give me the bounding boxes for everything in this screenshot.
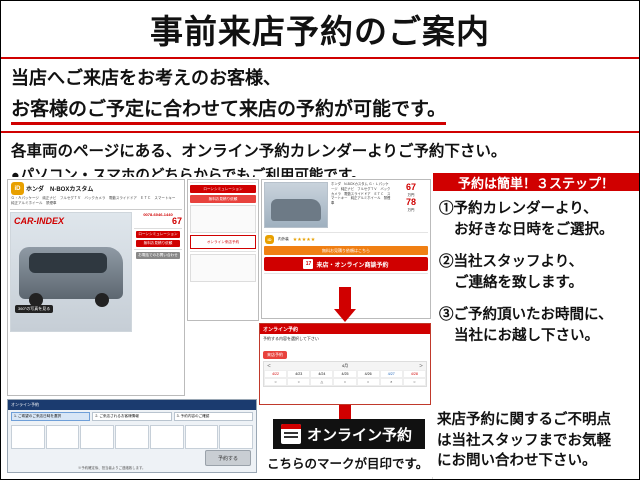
listing-reserve-button[interactable]: 17 来店・オンライン商談予約: [264, 257, 428, 271]
listing-photo[interactable]: [264, 182, 328, 228]
calendar-slot[interactable]: △: [310, 378, 333, 386]
calendar-slot[interactable]: ○: [264, 378, 287, 386]
form-calendar-cell[interactable]: [11, 425, 45, 449]
contact-line-1: 来店予約に関するご不明点: [437, 410, 635, 431]
tel-inquiry-button[interactable]: お電話でのお問い合わせ: [136, 252, 180, 259]
mid-reserve-button[interactable]: オンライン来店予約: [190, 235, 256, 249]
steps-banner: 予約は簡単！３ステップ！: [433, 173, 639, 191]
calendar-date[interactable]: 4/23: [287, 370, 310, 378]
lead-line-2-wrap: お客様のご予定に合わせて来店の予約が可能です。: [1, 90, 639, 131]
listing-rating-label: 内外装: [278, 237, 289, 242]
step-2-line-1: ②当社スタッフより、: [439, 254, 583, 270]
calendar-icon: 17: [303, 259, 313, 269]
screenshot-online-reservation[interactable]: オンライン予約 予約する内容を選択して下さい 来店予約 ＜ 4月 ＞ 4/22 …: [259, 323, 431, 405]
quote-request-button[interactable]: 無料お見積り依頼: [136, 240, 180, 247]
calendar-date[interactable]: 4/25: [333, 370, 356, 378]
form-calendar-cell[interactable]: [46, 425, 80, 449]
listing-price-total-unit: 万円: [394, 207, 428, 212]
step-1-line-1: ①予約カレンダーより、: [439, 201, 598, 217]
form-calendar-cell[interactable]: [219, 425, 253, 449]
calendar-slot[interactable]: ×: [380, 378, 403, 386]
vehicle-photo[interactable]: CAR-INDEX 360°の写真を見る: [10, 212, 132, 332]
page-root: 事前来店予約のご案内 当店へご来店をお考えのお客様、 お客様のご予定に合わせて来…: [0, 0, 640, 480]
listing-rating-stars: ★★★★★: [293, 237, 315, 243]
calendar-date-row: 4/22 4/23 4/24 4/25 4/26 4/27 4/28: [264, 370, 426, 378]
form-steps: 1. ご希望のご来店日時を選択 2. ご来店されるお客様情報 3. 予約内容のご…: [8, 410, 256, 423]
mid-divider-1: [190, 182, 256, 183]
online-calendar[interactable]: ＜ 4月 ＞ 4/22 4/23 4/24 4/25 4/26 4/27 4/2…: [263, 361, 427, 387]
photo-360-badge[interactable]: 360°の写真を見る: [15, 305, 53, 313]
steps-list: ①予約カレンダーより、 お好きな日時をご選択。 ②当社スタッフより、 ご連絡を致…: [433, 193, 639, 401]
calendar-month: 4月: [342, 363, 348, 369]
form-step-2[interactable]: 2. ご来店されるお客様情報: [92, 412, 171, 421]
form-calendar-cell[interactable]: [115, 425, 149, 449]
form-submit-button[interactable]: 予約する: [205, 450, 251, 466]
listing-spec: ホンダ N-BOXカスタム Ｇ・Ｌパッケージ 純正ナビ フルセグＴＶ バックカメ…: [331, 182, 391, 228]
calendar-date[interactable]: 4/27: [380, 370, 403, 378]
step-3-line-1: ③ご予約頂いたお時間に、: [439, 307, 613, 323]
form-header: オンライン予約: [8, 400, 256, 410]
car-wheel-rear: [95, 293, 109, 307]
calendar-slot[interactable]: ○: [333, 378, 356, 386]
vehicle-name: ホンダ N-BOXカスタム: [26, 184, 93, 193]
contact-line-3: にお問い合わせ下さい。: [437, 451, 635, 472]
car-window-shape: [29, 253, 107, 273]
lead-line-1: 当店へご来店をお考えのお客様、: [1, 59, 639, 90]
step-1-line-2: お好きな日時をご選択。: [439, 220, 635, 241]
listing-reserve-label: 来店・オンライン商談予約: [316, 260, 388, 269]
page-header: 事前来店予約のご案内: [1, 1, 639, 59]
lead-line-3: 各車両のページにある、オンライン予約カレンダーよりご予約下さい。: [1, 133, 639, 161]
vehicle-sidebar: 0078-6046-1440 67 ローンシミュレーション 無料お見積り依頼 お…: [134, 210, 184, 334]
screenshot-mid-column[interactable]: ローンシミュレーション 無料お見積り依頼 オンライン来店予約: [187, 179, 259, 321]
contact-line-2: は当社スタッフまでお気軽: [437, 431, 635, 452]
step-3: ③ご予約頂いたお時間に、 当社にお越し下さい。: [439, 305, 635, 346]
listing-divider-2: [264, 273, 428, 274]
vehicle-spec: Ｇ・Ａパッケージ 純正ナビ フルセグＴＶ バックカメラ 電動スライドドア ＥＴＣ…: [8, 196, 184, 209]
id-logo-icon: iD: [11, 182, 24, 195]
form-calendar-cell[interactable]: [150, 425, 184, 449]
lead-line-2: お客様のご予定に合わせて来店の予約が可能です。: [11, 94, 446, 125]
page-title: 事前来店予約のご案内: [150, 5, 490, 53]
listing-car-shape: [271, 199, 321, 221]
online-panel-title: オンライン予約: [260, 324, 430, 334]
step-2-line-2: ご連絡を致します。: [439, 273, 635, 294]
listing-top: ホンダ N-BOXカスタム Ｇ・Ｌパッケージ 純正ナビ フルセグＴＶ バックカメ…: [262, 180, 430, 230]
form-calendar-cell[interactable]: [185, 425, 219, 449]
sidebar-divider-2: [134, 249, 182, 250]
calendar-slot[interactable]: ○: [403, 378, 426, 386]
listing-price: 67: [394, 182, 428, 192]
brand-watermark: CAR-INDEX: [14, 216, 64, 226]
online-reservation-label: オンライン予約: [307, 424, 412, 445]
listing-divider: [264, 232, 428, 233]
calendar-prev-button[interactable]: ＜: [267, 363, 271, 369]
online-panel-tab[interactable]: 来店予約: [263, 351, 287, 359]
calendar-date[interactable]: 4/22: [264, 370, 287, 378]
form-note: ※予約確定後、担当者よりご連絡致します。: [78, 465, 145, 470]
step-1: ①予約カレンダーより、 お好きな日時をご選択。: [439, 199, 635, 240]
mid-loan-button[interactable]: ローンシミュレーション: [190, 185, 256, 193]
form-calendar-grid[interactable]: [8, 423, 256, 451]
vehicle-price: 67: [134, 217, 182, 226]
screenshot-vehicle-page[interactable]: iD ホンダ N-BOXカスタム Ｇ・Ａパッケージ 純正ナビ フルセグＴＶ バッ…: [7, 179, 185, 396]
screenshot-reservation-form[interactable]: オンライン予約 1. ご希望のご来店日時を選択 2. ご来店されるお客様情報 3…: [7, 399, 257, 473]
vehicle-page-header: iD ホンダ N-BOXカスタム: [8, 180, 184, 196]
mid-divider-2: [190, 251, 256, 252]
loan-simulation-button[interactable]: ローンシミュレーション: [136, 231, 180, 238]
mid-quote-button[interactable]: 無料お見積り依頼: [190, 195, 256, 203]
online-reservation-caption: こちらのマークが目印です。: [267, 453, 428, 472]
calendar-header: ＜ 4月 ＞: [264, 362, 426, 370]
calendar-date[interactable]: 4/24: [310, 370, 333, 378]
form-calendar-cell[interactable]: [80, 425, 114, 449]
contact-note: 来店予約に関するご不明点 は当社スタッフまでお気軽 にお問い合わせ下さい。: [433, 407, 639, 477]
calendar-date[interactable]: 4/26: [357, 370, 380, 378]
mid-content-box-2: [190, 254, 256, 282]
calendar-icon: [281, 424, 301, 444]
step-3-line-2: 当社にお越し下さい。: [439, 326, 635, 347]
calendar-slot[interactable]: ○: [357, 378, 380, 386]
calendar-next-button[interactable]: ＞: [419, 363, 423, 369]
vehicle-body: CAR-INDEX 360°の写真を見る 0078-6046-1440 67 ロ…: [8, 210, 184, 334]
online-reservation-button[interactable]: オンライン予約: [273, 419, 425, 449]
mid-content-box: [190, 205, 256, 233]
listing-id-badge: iD: [265, 235, 274, 244]
form-step-3[interactable]: 3. 予約内容のご確認: [174, 412, 253, 421]
listing-price-total: 78: [394, 197, 428, 207]
calendar-slot[interactable]: ○: [287, 378, 310, 386]
sidebar-divider-1: [134, 228, 182, 229]
step-2: ②当社スタッフより、 ご連絡を致します。: [439, 252, 635, 293]
online-panel-sub: 予約する内容を選択して下さい: [260, 334, 430, 343]
calendar-mark-row: ○ ○ △ ○ ○ × ○: [264, 378, 426, 386]
calendar-date[interactable]: 4/28: [403, 370, 426, 378]
listing-quote-button[interactable]: 無料お見積り依頼はこちら: [264, 246, 428, 255]
form-step-1[interactable]: 1. ご希望のご来店日時を選択: [11, 412, 90, 421]
